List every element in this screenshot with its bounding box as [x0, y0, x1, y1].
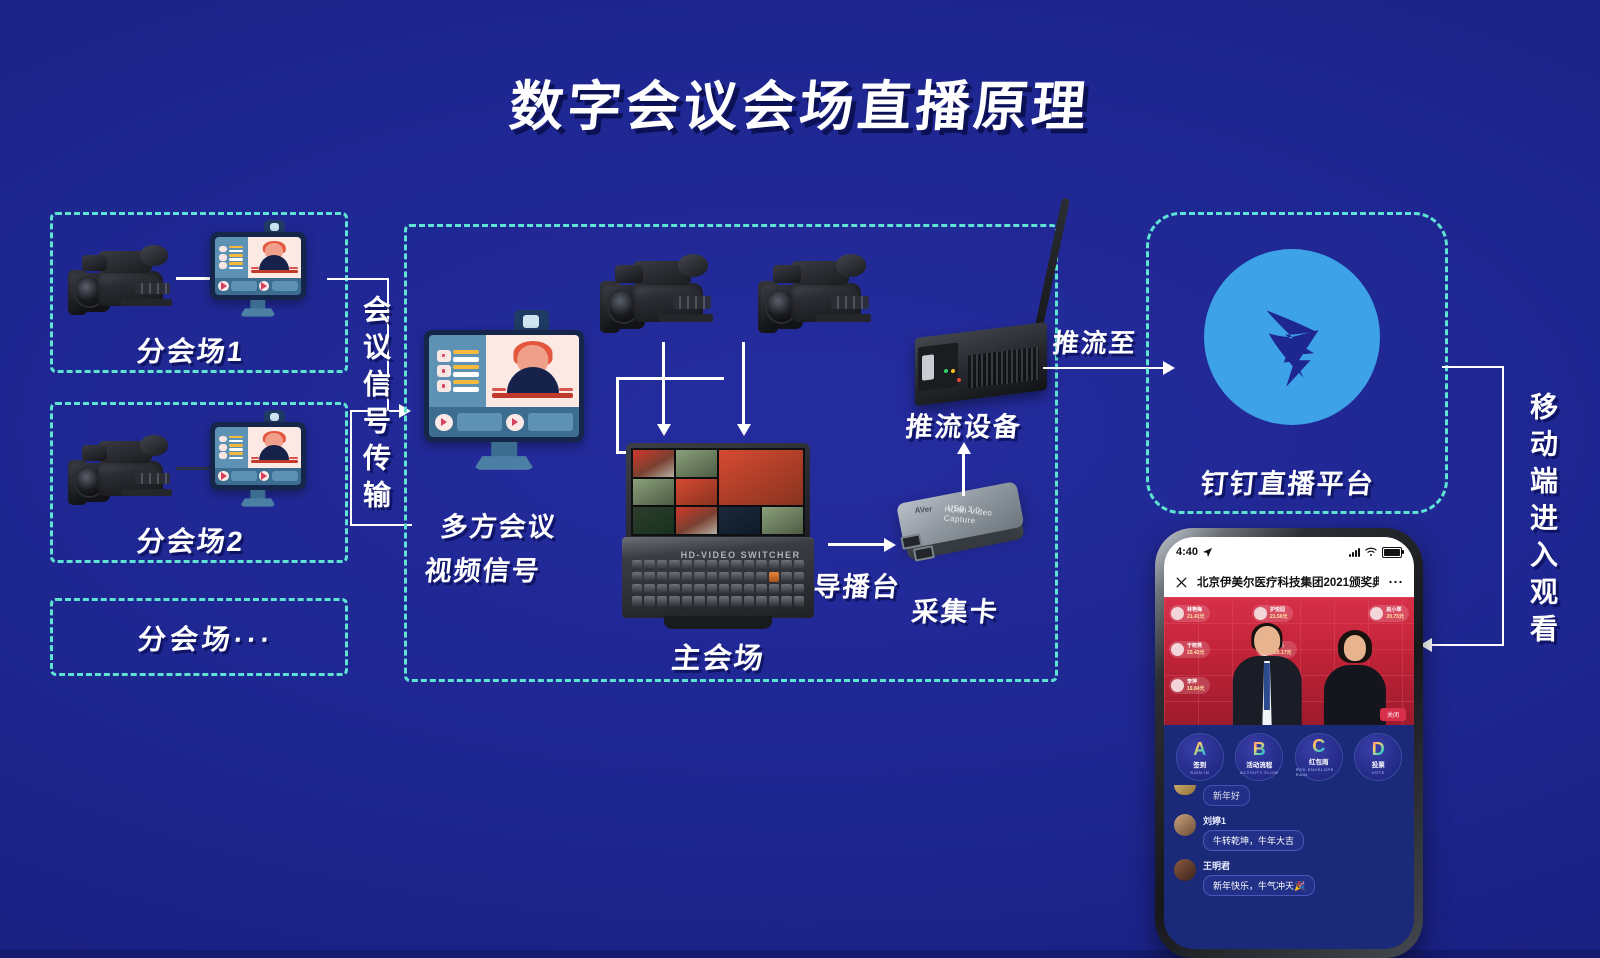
conference-signal-label-line1: 多方会议 — [439, 505, 559, 544]
multi-party-conference-monitor — [424, 330, 584, 482]
camcorder-icon-venue1 — [68, 240, 184, 322]
camcorder-icon-main-2 — [758, 248, 884, 340]
avatar — [1171, 679, 1184, 692]
avatar — [1174, 814, 1196, 836]
video-switcher-device: HD-VIDEO SWITCHER — [622, 443, 814, 631]
avatar — [1254, 607, 1267, 620]
live-video-stream[interactable]: 林艳梅21.41元 护悦园21.56元 赵小翠20.75元 于晓燕20.42元 … — [1164, 597, 1414, 725]
desktop-monitor-venue2 — [210, 422, 306, 514]
wifi-icon — [1365, 547, 1377, 557]
arrow-switcher-to-capture — [828, 543, 886, 546]
phone-status-bar: 4:40 — [1164, 537, 1414, 567]
platform-label: 钉钉直播平台 — [1199, 462, 1377, 501]
leaderboard-amount: 20.75元 — [1386, 614, 1404, 620]
live-chat-list[interactable]: 新年好 刘婷1 牛转乾坤，牛年大吉 王明君 新年快乐，牛气冲天🎉 — [1164, 787, 1414, 906]
arrow-conf-to-switcher-h — [616, 377, 724, 380]
mobile-phone-mockup: 4:40 北京伊美尔医疗科技集团2021 — [1155, 528, 1423, 958]
leaderboard-item: 李萍19.84元 — [1169, 677, 1210, 694]
chat-user-name: 刘婷1 — [1203, 814, 1304, 827]
main-venue-label: 主会场 — [670, 635, 767, 677]
list-item: 刘婷1 牛转乾坤，牛年大吉 — [1174, 814, 1404, 851]
switcher-label: 导播台 — [812, 565, 903, 604]
list-item: 新年好 — [1174, 785, 1404, 806]
leaderboard-item: 于晓燕20.42元 — [1169, 641, 1210, 658]
location-arrow-icon — [1202, 547, 1213, 558]
avatar — [1174, 785, 1196, 795]
avatar — [1171, 607, 1184, 620]
chat-user-name: 王明君 — [1203, 859, 1315, 872]
live-room-title: 北京伊美尔医疗科技集团2021颁奖典礼 — [1197, 574, 1379, 590]
list-item: 王明君 新年快乐，牛气冲天🎉 — [1174, 859, 1404, 896]
video-close-button[interactable]: 关闭 — [1380, 708, 1406, 721]
host-male — [1228, 621, 1306, 725]
live-action-icons: A 签到 SIGN IN B 活动流程 ACTIVITY FLOW C 红包雨 … — [1164, 725, 1414, 787]
leaderboard-item: 护悦园21.56元 — [1252, 605, 1293, 622]
leaderboard-amount: 21.41元 — [1187, 614, 1205, 620]
switcher-brand-text: HD-VIDEO SWITCHER — [681, 550, 801, 560]
arrow-cam1-to-switcher — [662, 342, 665, 426]
arrow-cam2-to-switcher — [742, 342, 745, 426]
cellular-signal-icon — [1349, 548, 1360, 557]
mobile-entry-label: 移动端进入观看 — [1522, 392, 1562, 651]
arrow-conf-to-switcher-v — [616, 377, 619, 454]
arrow-capture-to-encoder — [962, 452, 965, 496]
branch-venue-more-label: 分会场··· — [136, 618, 276, 658]
transmission-line-v1-h — [327, 278, 389, 280]
close-icon[interactable] — [1175, 576, 1188, 589]
encoder-label: 推流设备 — [904, 405, 1024, 444]
desktop-monitor-venue1 — [210, 232, 306, 324]
transmission-line-v2-v — [350, 412, 352, 526]
capture-card-label: 采集卡 — [910, 590, 1001, 629]
push-label: 推流至 — [1051, 323, 1139, 360]
avatar — [1370, 607, 1383, 620]
red-envelope-rain-icon[interactable]: C 红包雨 RED ENVELOPE RAIN — [1296, 734, 1342, 780]
camcorder-icon-main-1 — [600, 248, 726, 340]
sign-in-icon[interactable]: A 签到 SIGN IN — [1177, 734, 1223, 780]
conference-signal-label-line2: 视频信号 — [423, 549, 543, 588]
chat-message: 新年好 — [1203, 785, 1250, 806]
leaderboard-amount: 20.42元 — [1187, 650, 1205, 656]
leaderboard-item: 赵小翠20.75元 — [1368, 605, 1409, 622]
battery-full-icon — [1382, 547, 1402, 558]
more-options-icon[interactable] — [1388, 579, 1403, 585]
transmission-line-v2-h — [350, 524, 412, 526]
transmission-label: 会议信号传输 — [355, 295, 395, 517]
leaderboard-item: 林艳梅21.41元 — [1169, 605, 1210, 622]
avatar — [1171, 643, 1184, 656]
chat-message: 牛转乾坤，牛年大吉 — [1203, 830, 1304, 851]
dingtalk-logo-icon — [1204, 249, 1380, 425]
leaderboard-amount: 21.56元 — [1270, 614, 1288, 620]
chat-message: 新年快乐，牛气冲天🎉 — [1203, 875, 1315, 896]
vote-icon[interactable]: D 投票 VOTE — [1355, 734, 1401, 780]
mobile-entry-line-v — [1502, 366, 1504, 646]
camcorder-icon-venue2 — [68, 430, 184, 512]
mobile-entry-line-h-bottom — [1430, 644, 1504, 646]
branch-venue-2-label: 分会场2 — [135, 520, 247, 560]
arrow-head-capture — [884, 538, 896, 552]
leaderboard-amount: 19.84元 — [1187, 686, 1205, 692]
streaming-encoder-device — [915, 250, 1047, 398]
activity-flow-icon[interactable]: B 活动流程 ACTIVITY FLOW — [1236, 734, 1282, 780]
arrow-head-cam1 — [657, 424, 671, 436]
page-title: 数字会议会场直播原理 — [0, 62, 1600, 141]
capture-card-text-2: HDMI Video Capture — [943, 505, 1022, 530]
status-time: 4:40 — [1176, 546, 1198, 558]
avatar — [1174, 859, 1196, 881]
mobile-entry-line-h-top — [1442, 366, 1504, 368]
arrow-head-cam2 — [737, 424, 751, 436]
branch-venue-1-label: 分会场1 — [135, 330, 247, 370]
phone-top-bar: 北京伊美尔医疗科技集团2021颁奖典礼 — [1164, 567, 1414, 597]
